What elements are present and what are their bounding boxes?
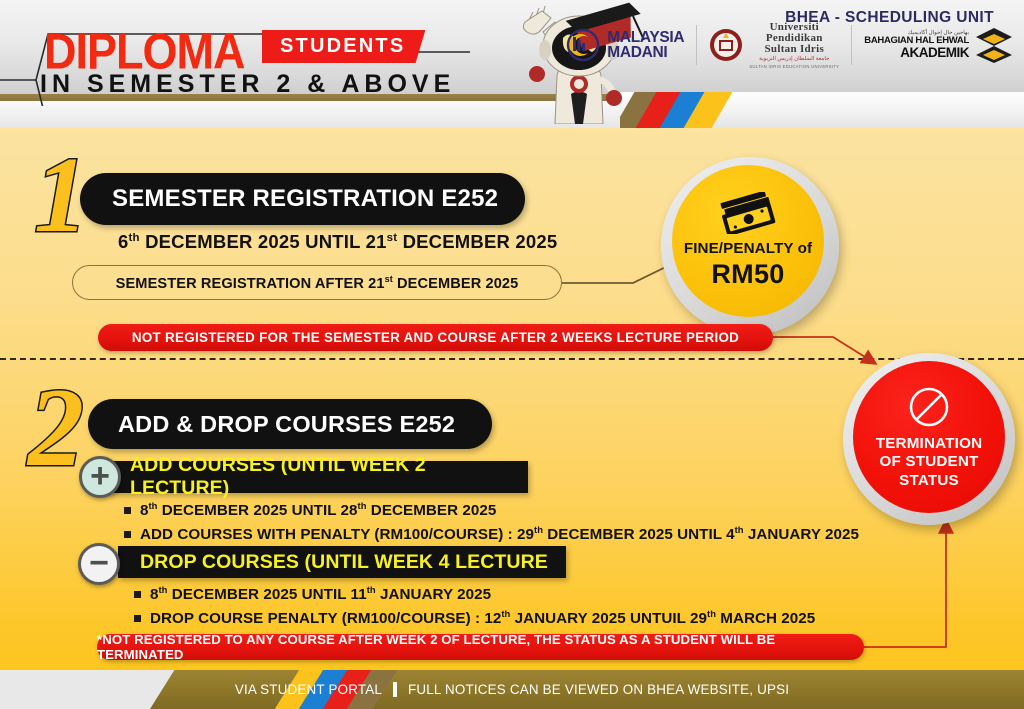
title-students-badge: STUDENTS xyxy=(262,30,425,63)
drop-item-1-p1: 8 xyxy=(150,586,159,603)
warning-bar-2-label: *NOT REGISTERED TO ANY COURSE AFTER WEEK… xyxy=(97,632,864,662)
upsi-arabic: جامعة السلطان إدريس التربوية xyxy=(749,56,839,62)
footer-text: VIA STUDENT PORTAL FULL NOTICES CAN BE V… xyxy=(0,670,1024,709)
termination-line1: TERMINATION xyxy=(876,435,983,454)
dateline-post: DECEMBER 2025 xyxy=(397,231,557,252)
late-note-pre: SEMESTER REGISTRATION AFTER 21 xyxy=(116,275,385,291)
drop-item-2-p2: JANUARY 2025 UNTUIL 29 xyxy=(510,610,707,627)
drop-item-2-s1: th xyxy=(501,608,510,619)
add-courses-label: ADD COURSES (UNTIL WEEK 2 LECTURE) xyxy=(130,454,528,500)
bullet-square xyxy=(124,531,131,538)
drop-courses-label: DROP COURSES (UNTIL WEEK 4 LECTURE xyxy=(140,551,548,574)
section-divider xyxy=(0,358,1024,360)
warning-bar-1-label: NOT REGISTERED FOR THE SEMESTER AND COUR… xyxy=(132,330,739,345)
upsi-line2: Pendidikan xyxy=(749,33,839,44)
madani-emblem-icon xyxy=(566,28,600,62)
section-1-heading-pill: SEMESTER REGISTRATION E252 xyxy=(80,173,525,225)
warning-bar-1: NOT REGISTERED FOR THE SEMESTER AND COUR… xyxy=(98,324,773,351)
logo-group: MALAYSIA MADANI Universiti Pendidikan Su… xyxy=(566,14,1014,76)
add-courses-header: ADD COURSES (UNTIL WEEK 2 LECTURE) xyxy=(108,461,528,493)
fine-penalty-badge: FINE/PENALTY of RM50 xyxy=(672,165,824,317)
drop-item-2-p1: DROP COURSE PENALTY (RM100/COURSE) : 12 xyxy=(150,610,501,627)
department-band xyxy=(620,92,1024,128)
add-item-2-s1: th xyxy=(534,524,543,535)
logo-divider-2 xyxy=(851,25,852,65)
money-icon xyxy=(712,192,784,234)
title-students-label: STUDENTS xyxy=(280,36,405,56)
logo-divider-1 xyxy=(696,25,697,65)
late-note-sup: st xyxy=(385,274,393,284)
drop-item-2-s2: th xyxy=(707,608,716,619)
list-item: ADD COURSES WITH PENALTY (RM100/COURSE) … xyxy=(124,524,859,545)
section-2-heading-label: ADD & DROP COURSES E252 xyxy=(118,411,455,438)
madani-line1: MALAYSIA xyxy=(607,30,684,45)
upsi-crest-icon xyxy=(709,28,743,62)
upsi-line1: Universiti xyxy=(749,22,839,33)
poster-canvas: DIPLOMA STUDENTS IN SEMESTER 2 & ABOVE xyxy=(0,0,1024,709)
drop-item-1-p2: DECEMBER 2025 UNTIL 11 xyxy=(167,586,366,603)
late-note-text: SEMESTER REGISTRATION AFTER 21st DECEMBE… xyxy=(116,274,519,292)
page-subtitle: IN SEMESTER 2 & ABOVE xyxy=(40,72,455,97)
upsi-caption: SULTAN IDRIS EDUCATION UNIVERSITY xyxy=(749,64,839,69)
plus-icon: + xyxy=(79,456,121,498)
fine-label-line2: RM50 xyxy=(711,259,784,290)
add-item-1-s2: th xyxy=(358,500,367,511)
add-item-1-p2: DECEMBER 2025 UNTIL 28 xyxy=(157,502,357,519)
prohibition-icon xyxy=(906,384,952,430)
bullet-square xyxy=(124,507,131,514)
bhea-mortarboard-icon xyxy=(974,26,1014,64)
termination-line3: STATUS xyxy=(899,472,959,491)
drop-item-2: DROP COURSE PENALTY (RM100/COURSE) : 12t… xyxy=(150,608,815,629)
page-title-diploma: DIPLOMA xyxy=(44,26,245,76)
bhea-line2: AKADEMIK xyxy=(864,46,969,60)
drop-courses-header: DROP COURSES (UNTIL WEEK 4 LECTURE xyxy=(118,546,566,578)
footer-left-label: VIA STUDENT PORTAL xyxy=(235,682,382,697)
section-1-dateline: 6th DECEMBER 2025 UNTIL 21st DECEMBER 20… xyxy=(118,231,557,253)
drop-item-1-p3: JANUARY 2025 xyxy=(376,586,491,603)
bullet-square xyxy=(134,591,141,598)
upsi-line3: Sultan Idris xyxy=(749,44,839,55)
drop-courses-list: 8th DECEMBER 2025 UNTIL 11th JANUARY 202… xyxy=(134,584,815,632)
list-item: 8th DECEMBER 2025 UNTIL 28th DECEMBER 20… xyxy=(124,500,859,521)
bhea-logo: بهاجين حال إحوال أكاديميك BAHAGIAN HAL E… xyxy=(864,26,1014,64)
footer-right-label: FULL NOTICES CAN BE VIEWED ON BHEA WEBSI… xyxy=(408,682,789,697)
add-item-2: ADD COURSES WITH PENALTY (RM100/COURSE) … xyxy=(140,524,859,545)
minus-glyph: − xyxy=(89,552,109,576)
drop-item-2-p3: MARCH 2025 xyxy=(716,610,815,627)
add-item-2-s2: th xyxy=(735,524,744,535)
add-item-2-p3: JANUARY 2025 xyxy=(744,526,859,543)
section-number-2: 2 xyxy=(28,372,84,484)
add-item-2-p1: ADD COURSES WITH PENALTY (RM100/COURSE) … xyxy=(140,526,534,543)
plus-glyph: + xyxy=(90,465,110,489)
drop-item-1: 8th DECEMBER 2025 UNTIL 11th JANUARY 202… xyxy=(150,584,491,605)
section-1-late-note-pill: SEMESTER REGISTRATION AFTER 21st DECEMBE… xyxy=(72,265,562,300)
upsi-logo: Universiti Pendidikan Sultan Idris جامعة… xyxy=(709,22,839,69)
minus-icon: − xyxy=(78,543,120,585)
add-item-2-p2: DECEMBER 2025 UNTIL 4 xyxy=(543,526,735,543)
dateline-mid: DECEMBER 2025 UNTIL 21 xyxy=(140,231,387,252)
add-courses-list: 8th DECEMBER 2025 UNTIL 28th DECEMBER 20… xyxy=(124,500,859,548)
bullet-square xyxy=(134,615,141,622)
footer-bar: VIA STUDENT PORTAL FULL NOTICES CAN BE V… xyxy=(0,670,1024,709)
termination-line2: OF STUDENT xyxy=(879,453,978,472)
dateline-sup2: st xyxy=(387,232,398,244)
add-item-1-p1: 8 xyxy=(140,502,149,519)
section-1-heading-label: SEMESTER REGISTRATION E252 xyxy=(112,185,498,213)
fine-label-line1: FINE/PENALTY of xyxy=(684,240,812,257)
footer-separator xyxy=(393,682,397,697)
section-2-heading-pill: ADD & DROP COURSES E252 xyxy=(88,399,492,449)
warning-bar-2: *NOT REGISTERED TO ANY COURSE AFTER WEEK… xyxy=(97,634,864,660)
add-item-1: 8th DECEMBER 2025 UNTIL 28th DECEMBER 20… xyxy=(140,500,496,521)
add-item-1-p3: DECEMBER 2025 xyxy=(367,502,497,519)
malaysia-madani-logo: MALAYSIA MADANI xyxy=(566,28,684,62)
list-item: DROP COURSE PENALTY (RM100/COURSE) : 12t… xyxy=(134,608,815,629)
dateline-pre: 6 xyxy=(118,231,129,252)
list-item: 8th DECEMBER 2025 UNTIL 11th JANUARY 202… xyxy=(134,584,815,605)
termination-badge: TERMINATION OF STUDENT STATUS xyxy=(853,361,1005,513)
late-note-post: DECEMBER 2025 xyxy=(393,275,519,291)
drop-item-1-s2: th xyxy=(367,584,376,595)
dateline-sup1: th xyxy=(129,232,140,244)
madani-line2: MADANI xyxy=(607,45,684,60)
